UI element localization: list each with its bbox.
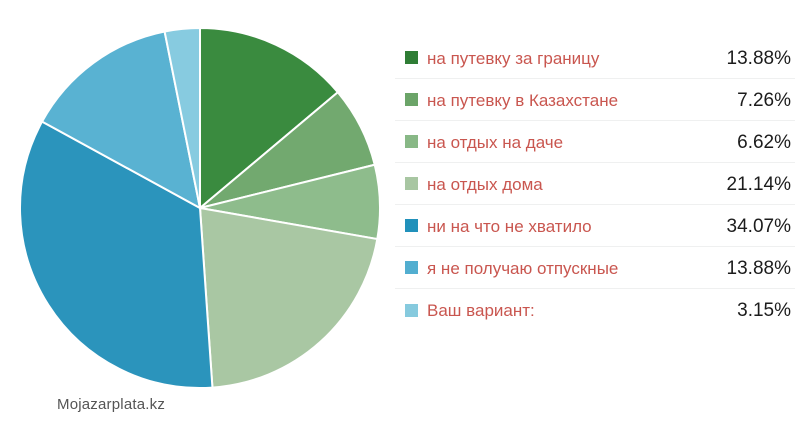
legend-row[interactable]: ни на что не хватило 34.07% xyxy=(395,205,795,247)
chart-legend: на путевку за границу 13.88% на путевку … xyxy=(395,37,795,331)
legend-item-value: 21.14% xyxy=(683,174,795,194)
legend-item-label: я не получаю отпускные xyxy=(427,259,683,277)
legend-row[interactable]: я не получаю отпускные 13.88% xyxy=(395,247,795,289)
watermark-label: Mojazarplata.kz xyxy=(57,396,165,413)
legend-item-value: 6.62% xyxy=(683,132,795,152)
legend-color-swatch xyxy=(405,135,418,148)
legend-row[interactable]: на отдых дома 21.14% xyxy=(395,163,795,205)
legend-item-label: Ваш вариант: xyxy=(427,301,683,319)
legend-swatch-cell xyxy=(395,304,427,317)
legend-color-swatch xyxy=(405,177,418,190)
legend-item-value: 34.07% xyxy=(683,216,795,236)
pie-chart-svg xyxy=(0,0,390,447)
legend-swatch-cell xyxy=(395,177,427,190)
legend-item-label: ни на что не хватило xyxy=(427,217,683,235)
legend-color-swatch xyxy=(405,51,418,64)
legend-item-label: на путевку за границу xyxy=(427,49,683,67)
legend-row[interactable]: на отдых на даче 6.62% xyxy=(395,121,795,163)
legend-swatch-cell xyxy=(395,219,427,232)
legend-swatch-cell xyxy=(395,51,427,64)
legend-row[interactable]: на путевку за границу 13.88% xyxy=(395,37,795,79)
legend-item-label: на отдых дома xyxy=(427,175,683,193)
pie-slice[interactable] xyxy=(200,208,377,388)
legend-row[interactable]: Ваш вариант: 3.15% xyxy=(395,289,795,331)
legend-color-swatch xyxy=(405,93,418,106)
legend-swatch-cell xyxy=(395,261,427,274)
pie-chart-area: Mojazarplata.kz xyxy=(0,0,390,447)
legend-item-value: 3.15% xyxy=(683,300,795,320)
legend-swatch-cell xyxy=(395,93,427,106)
legend-item-value: 7.26% xyxy=(683,90,795,110)
legend-swatch-cell xyxy=(395,135,427,148)
legend-item-label: на отдых на даче xyxy=(427,133,683,151)
legend-color-swatch xyxy=(405,261,418,274)
pie-chart-page: Mojazarplata.kz на путевку за границу 13… xyxy=(0,0,800,447)
legend-item-value: 13.88% xyxy=(683,258,795,278)
legend-color-swatch xyxy=(405,219,418,232)
legend-row[interactable]: на путевку в Казахстане 7.26% xyxy=(395,79,795,121)
legend-item-value: 13.88% xyxy=(683,48,795,68)
legend-color-swatch xyxy=(405,304,418,317)
legend-item-label: на путевку в Казахстане xyxy=(427,91,683,109)
